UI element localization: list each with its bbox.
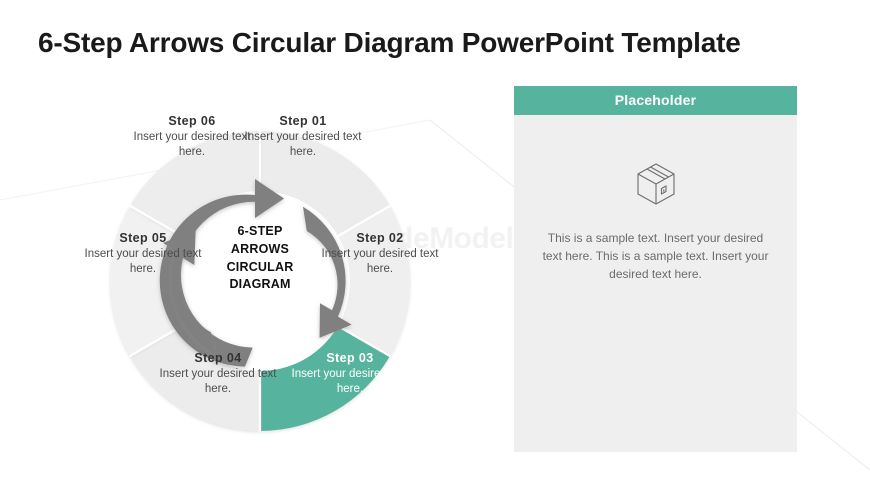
center-caption-line-3: CIRCULAR bbox=[200, 259, 320, 277]
placeholder-body: This is a sample text. Insert your desir… bbox=[514, 115, 797, 452]
diagram-center-caption: 6-STEP ARROWS CIRCULAR DIAGRAM bbox=[200, 223, 320, 294]
page-title: 6-Step Arrows Circular Diagram PowerPoin… bbox=[38, 26, 798, 60]
placeholder-panel: Placeholder This is a sample text. Inser… bbox=[514, 86, 797, 452]
package-box-icon bbox=[635, 161, 677, 212]
center-caption-line-1: 6-STEP bbox=[200, 223, 320, 241]
placeholder-body-text: This is a sample text. Insert your desir… bbox=[540, 229, 771, 284]
center-caption-line-2: ARROWS bbox=[200, 241, 320, 259]
placeholder-header: Placeholder bbox=[514, 86, 797, 115]
center-caption-line-4: DIAGRAM bbox=[200, 276, 320, 294]
circular-diagram: 6-STEP ARROWS CIRCULAR DIAGRAM Step 01 I… bbox=[75, 96, 445, 466]
placeholder-header-label: Placeholder bbox=[615, 92, 697, 108]
